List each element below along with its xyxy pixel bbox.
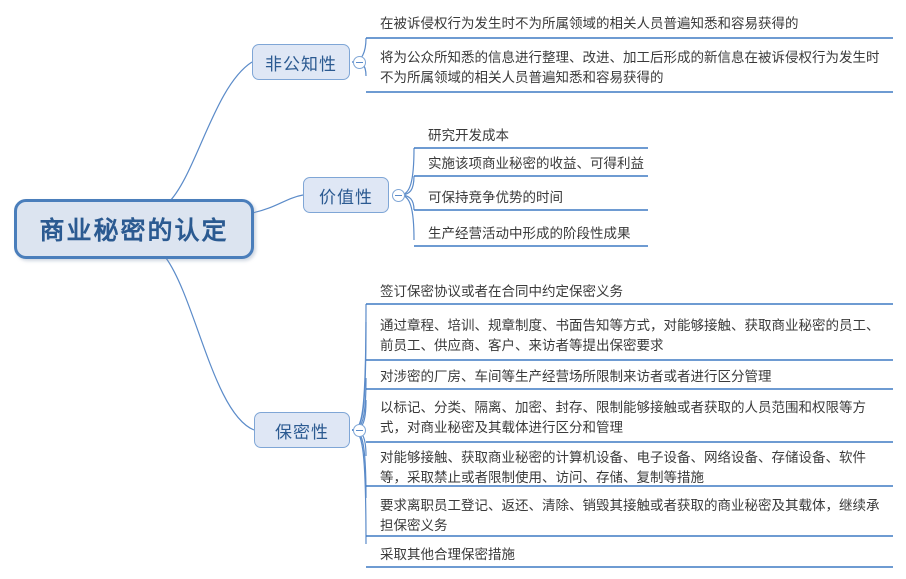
leaf-node[interactable]: 对能够接触、获取商业秘密的计算机设备、电子设备、网络设备、存储设备、软件 等，采…: [374, 448, 889, 490]
leaf-node[interactable]: 要求离职员工登记、返还、清除、销毁其接触或者获取的商业秘密及其载体，继续承 担保…: [374, 496, 889, 538]
edge-root-to-branch-2: [252, 195, 303, 213]
branch-node-non-public-label: 非公知性: [265, 50, 337, 75]
mindmap-canvas: 商业秘密的认定 非公知性 在被诉侵权行为发生时不为所属领域的相关人员普遍知悉和容…: [0, 0, 906, 579]
collapse-toggle-icon-non-public[interactable]: [353, 56, 366, 69]
leaf-node[interactable]: 通过章程、培训、规章制度、书面告知等方式，对能够接触、获取商业秘密的员工、 前员…: [374, 316, 889, 358]
root-node[interactable]: 商业秘密的认定: [14, 199, 254, 259]
edge-b2-leaf-1: [400, 148, 414, 195]
leaf-node[interactable]: 生产经营活动中形成的阶段性成果: [422, 224, 647, 246]
branch-node-non-public[interactable]: 非公知性: [252, 44, 350, 80]
collapse-toggle-icon-confidentiality[interactable]: [353, 424, 366, 437]
leaf-node[interactable]: 在被诉侵权行为发生时不为所属领域的相关人员普遍知悉和容易获得的: [374, 14, 889, 36]
edge-root-to-branch-3: [166, 258, 254, 430]
leaf-node[interactable]: 将为公众所知悉的信息进行整理、改进、加工后形成的新信息在被诉侵权行为发生时 不为…: [374, 48, 889, 90]
leaf-node[interactable]: 签订保密协议或者在合同中约定保密义务: [374, 282, 889, 304]
leaf-node[interactable]: 实施该项商业秘密的收益、可得利益: [422, 154, 647, 176]
edge-b3-leaf-6: [352, 430, 366, 498]
root-node-label: 商业秘密的认定: [39, 211, 228, 247]
branch-node-value[interactable]: 价值性: [303, 177, 389, 213]
edge-b3-leaf-1: [352, 304, 366, 430]
edge-root-to-branch-1: [168, 62, 252, 203]
branch-node-value-label: 价值性: [319, 183, 373, 208]
branch-node-confidentiality[interactable]: 保密性: [254, 412, 350, 448]
edge-b3-leaf-7: [352, 430, 366, 544]
leaf-node[interactable]: 采取其他合理保密措施: [374, 545, 889, 567]
collapse-toggle-icon-value[interactable]: [392, 189, 405, 202]
leaf-node[interactable]: 以标记、分类、隔离、加密、封存、限制能够接触或者获取的人员范围和权限等方 式，对…: [374, 398, 889, 440]
branch-node-confidentiality-label: 保密性: [275, 418, 329, 443]
leaf-node[interactable]: 对涉密的厂房、车间等生产经营场所限制来访者或者进行区分管理: [374, 367, 889, 389]
edge-b3-leaf-3: [352, 378, 366, 430]
leaf-node[interactable]: 可保持竞争优势的时间: [422, 188, 647, 210]
leaf-node[interactable]: 研究开发成本: [422, 126, 647, 148]
edge-b3-leaf-2: [352, 322, 366, 430]
edge-b2-leaf-4: [400, 195, 414, 240]
